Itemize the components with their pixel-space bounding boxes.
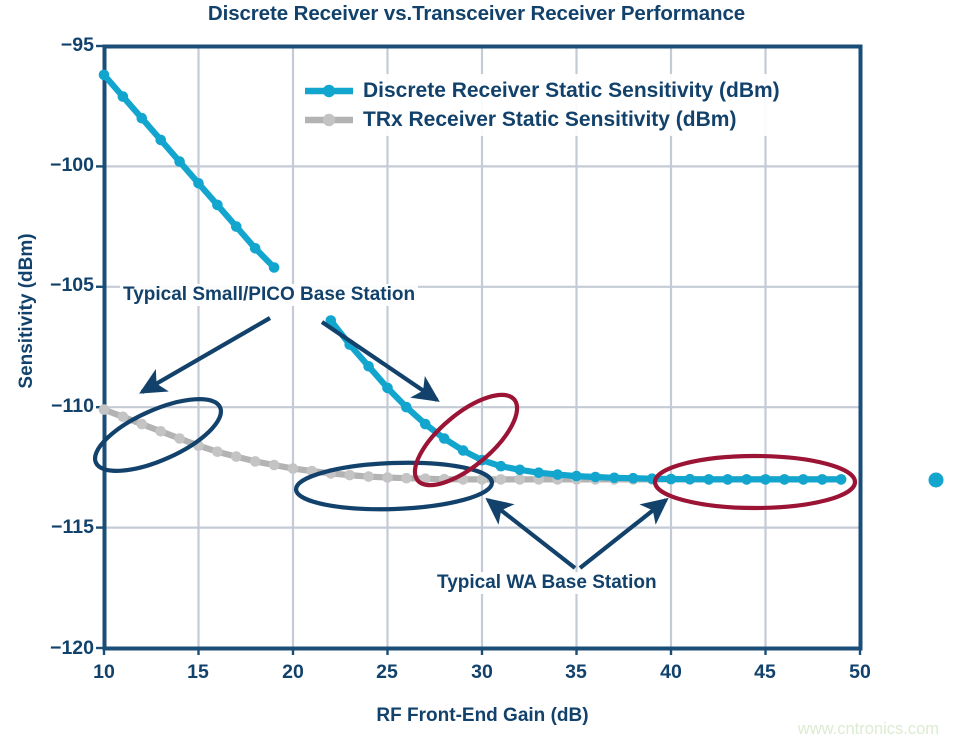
series-marker: [666, 474, 677, 485]
legend-item-trx[interactable]: TRx Receiver Static Sensitivity (dBm): [304, 105, 780, 134]
annotation-arrows: [142, 318, 666, 568]
series-marker: [401, 473, 412, 484]
series-line: [104, 75, 274, 268]
series-marker: [212, 200, 223, 211]
legend: Discrete Receiver Static Sensitivity (dB…: [300, 74, 784, 136]
series-marker: [193, 178, 204, 189]
series-marker: [420, 419, 431, 430]
series-marker: [155, 135, 166, 146]
series-marker: [722, 474, 733, 485]
arrow-to-maroon-right-ellipse: [580, 500, 666, 568]
series-marker: [99, 404, 110, 415]
series-marker: [439, 433, 450, 444]
series-marker: [515, 465, 526, 476]
series-marker: [836, 474, 847, 485]
series-marker: [685, 474, 696, 485]
series-marker: [401, 402, 412, 413]
series-marker: [496, 474, 507, 485]
series-marker: [571, 471, 582, 482]
arrow-to-maroon-upper-ellipse: [322, 322, 437, 400]
series-marker: [533, 467, 544, 478]
series-marker: [590, 472, 601, 483]
stray-data-marker: [929, 473, 944, 488]
series-marker: [779, 474, 790, 485]
series-marker: [250, 456, 261, 467]
series-marker: [174, 156, 185, 167]
series-marker: [155, 426, 166, 437]
series-marker: [174, 433, 185, 444]
annotation-wa-base-station: Typical WA Base Station: [434, 572, 660, 594]
series-marker: [704, 474, 715, 485]
series-marker: [552, 469, 563, 480]
series-marker: [458, 445, 469, 456]
series-marker: [760, 474, 771, 485]
series-marker: [628, 473, 639, 484]
series-marker: [212, 446, 223, 457]
series-marker: [231, 221, 242, 232]
navy-ellipse-center: [295, 460, 492, 513]
arrow-to-navy-left-ellipse: [142, 318, 270, 392]
series-marker: [363, 361, 374, 372]
legend-label-discrete: Discrete Receiver Static Sensitivity (dB…: [363, 79, 780, 103]
series-marker: [269, 460, 280, 471]
series-marker: [137, 419, 148, 430]
watermark: www.cntronics.com: [798, 720, 939, 739]
series-marker: [817, 474, 828, 485]
series-marker: [118, 412, 129, 423]
series-marker: [344, 470, 355, 481]
series-marker: [798, 474, 809, 485]
chart-root: Discrete Receiver vs.Transceiver Receive…: [0, 0, 953, 749]
arrow-to-navy-center-ellipse: [488, 500, 575, 568]
series-marker: [137, 113, 148, 124]
series-marker: [288, 463, 299, 474]
series-marker: [250, 243, 261, 254]
series-marker: [99, 70, 110, 81]
series-marker: [231, 451, 242, 462]
series-marker: [382, 383, 393, 394]
series-marker: [741, 474, 752, 485]
series-marker: [609, 473, 620, 484]
series-marker: [269, 262, 280, 273]
series-marker: [118, 91, 129, 102]
series-marker: [515, 474, 526, 485]
legend-swatch-discrete-icon: [304, 79, 354, 103]
series-marker: [382, 472, 393, 483]
annotation-small-pico: Typical Small/PICO Base Station: [120, 284, 418, 306]
series-marker: [363, 471, 374, 482]
legend-swatch-trx-icon: [304, 108, 354, 132]
series-marker: [496, 461, 507, 472]
legend-label-trx: TRx Receiver Static Sensitivity (dBm): [363, 108, 736, 132]
legend-item-discrete[interactable]: Discrete Receiver Static Sensitivity (dB…: [304, 76, 780, 105]
